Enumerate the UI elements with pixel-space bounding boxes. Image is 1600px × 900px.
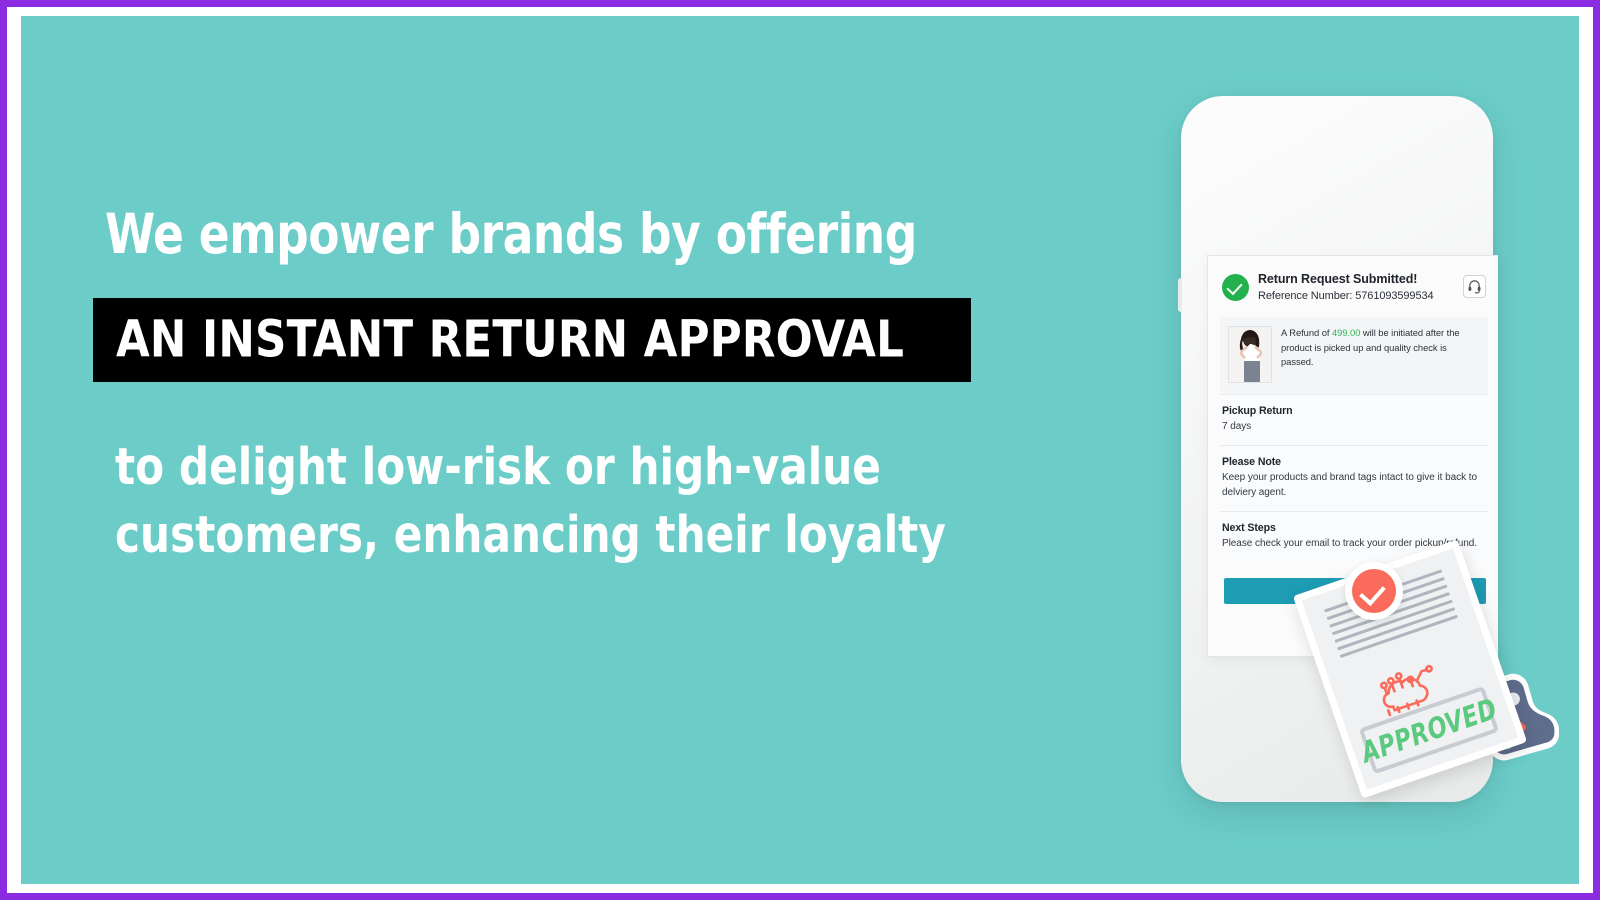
- hero-copy-block: We empower brands by offering AN INSTANT…: [79, 206, 1039, 570]
- section-body: 7 days: [1222, 419, 1486, 434]
- section-title: Pickup Return: [1222, 405, 1486, 417]
- headline-bottom-line-2: customers, enhancing their loyalty: [115, 502, 965, 570]
- refund-amount: 499.00: [1332, 327, 1360, 338]
- section-pickup-return: Pickup Return 7 days: [1220, 394, 1488, 445]
- headline-bottom-line-1: to delight low-risk or high-value: [115, 434, 965, 502]
- section-body: Keep your products and brand tags intact…: [1222, 470, 1486, 500]
- refund-text-before: A Refund of: [1281, 327, 1332, 338]
- poster-canvas: We empower brands by offering AN INSTANT…: [21, 16, 1579, 884]
- headline-banner-text: AN INSTANT RETURN APPROVAL: [116, 310, 904, 369]
- reference-label: Reference Number:: [1258, 290, 1352, 302]
- product-thumbnail[interactable]: [1228, 326, 1272, 383]
- poster-frame: We empower brands by offering AN INSTANT…: [0, 0, 1600, 900]
- check-circle-coral-icon: [1345, 562, 1403, 620]
- headline-bottom-block: to delight low-risk or high-value custom…: [115, 434, 965, 571]
- approved-document-illustration: APPROVED: [1313, 544, 1563, 794]
- return-status-header: Return Request Submitted! Reference Numb…: [1208, 256, 1498, 315]
- reference-number: 5761093599534: [1355, 290, 1433, 302]
- support-headset-icon[interactable]: [1463, 275, 1486, 298]
- phone-side-button[interactable]: [1178, 278, 1182, 312]
- headline-top-line: We empower brands by offering: [105, 206, 964, 264]
- section-please-note: Please Note Keep your products and brand…: [1220, 445, 1488, 511]
- check-circle-icon: [1222, 274, 1249, 301]
- refund-info-row: A Refund of 499.00 will be initiated aft…: [1220, 317, 1488, 394]
- section-title: Please Note: [1222, 456, 1486, 468]
- section-title: Next Steps: [1222, 522, 1486, 534]
- status-text-group: Return Request Submitted! Reference Numb…: [1249, 272, 1463, 303]
- headline-banner: AN INSTANT RETURN APPROVAL: [93, 298, 971, 382]
- reference-line: Reference Number: 5761093599534: [1258, 289, 1463, 304]
- status-title: Return Request Submitted!: [1258, 272, 1463, 288]
- refund-text: A Refund of 499.00 will be initiated aft…: [1272, 326, 1480, 383]
